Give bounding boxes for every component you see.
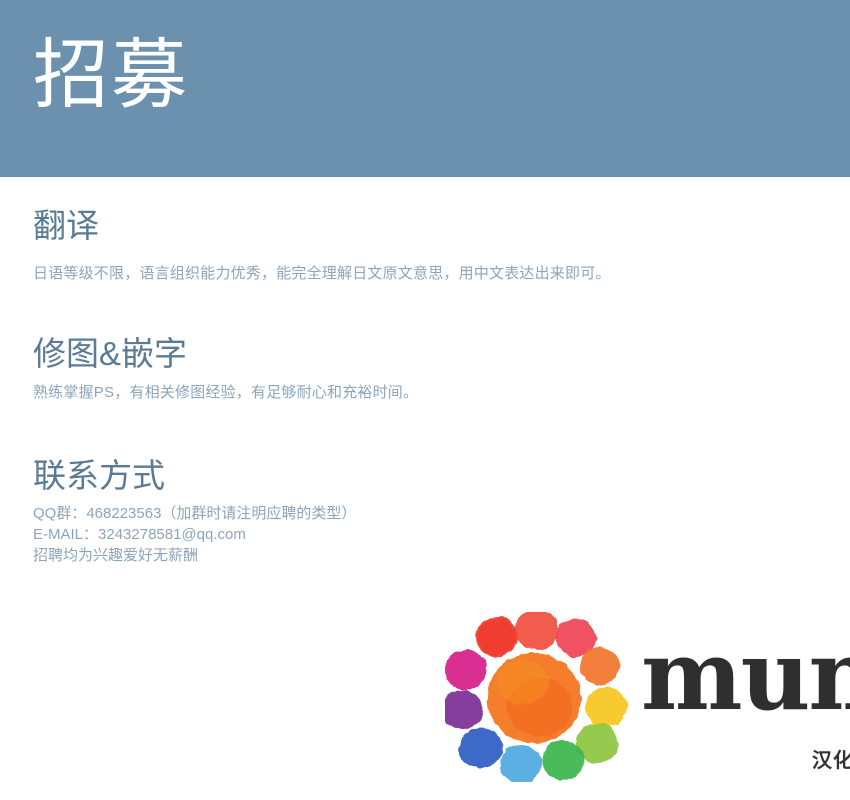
contact-details: QQ群：468223563（加群时请注明应聘的类型） E-MAIL：324327… xyxy=(33,503,356,566)
section-contact-heading: 联系方式 xyxy=(33,459,356,494)
logo-wordmark: mum xyxy=(641,626,850,726)
logo-area: mum 汉化组 xyxy=(445,612,845,792)
logo-subtitle: 汉化组 xyxy=(812,744,850,773)
section-retouch-body: 熟练掌握PS，有相关修图经验，有足够耐心和充裕时间。 xyxy=(33,381,418,402)
watercolor-circle-logo-icon xyxy=(445,612,630,782)
section-contact: 联系方式 QQ群：468223563（加群时请注明应聘的类型） E-MAIL：3… xyxy=(33,459,356,566)
section-retouch: 修图&嵌字 熟练掌握PS，有相关修图经验，有足够耐心和充裕时间。 xyxy=(33,337,418,402)
contact-note: 招聘均为兴趣爱好无薪酬 xyxy=(33,545,356,566)
section-translate-heading: 翻译 xyxy=(33,209,611,244)
section-translate-body: 日语等级不限，语言组织能力优秀，能完全理解日文原文意思，用中文表达出来即可。 xyxy=(33,262,611,283)
page-title: 招募 xyxy=(33,38,189,114)
section-retouch-heading: 修图&嵌字 xyxy=(33,337,418,372)
section-translate: 翻译 日语等级不限，语言组织能力优秀，能完全理解日文原文意思，用中文表达出来即可… xyxy=(33,209,611,283)
page-banner: 招募 xyxy=(0,0,850,177)
contact-email: E-MAIL：3243278581@qq.com xyxy=(33,524,356,545)
logo-wordmark-group: mum 汉化组 xyxy=(641,626,850,786)
contact-qq-group: QQ群：468223563（加群时请注明应聘的类型） xyxy=(33,503,356,524)
